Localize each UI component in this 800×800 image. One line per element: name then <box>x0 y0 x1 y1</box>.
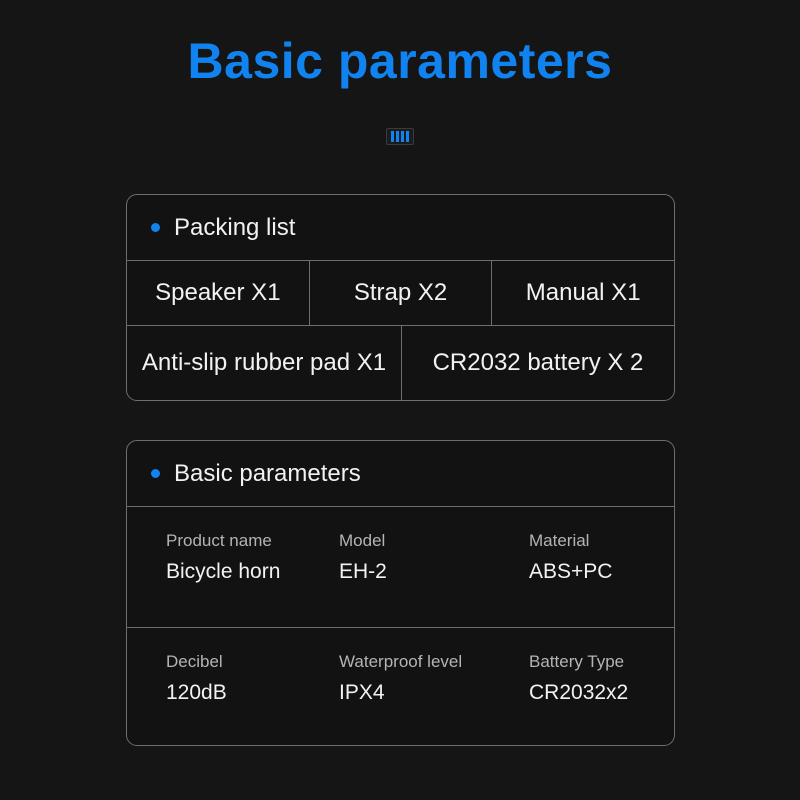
table-row: Speaker X1 Strap X2 Manual X1 <box>127 261 674 325</box>
spec-label: Model <box>339 529 529 554</box>
spec-waterproof-level: Waterproof level IPX4 <box>339 650 529 725</box>
spec-value: Bicycle horn <box>166 558 339 586</box>
bullet-dot-icon <box>151 223 160 232</box>
packing-item-strap: Strap X2 <box>309 261 492 325</box>
spec-row: Decibel 120dB Waterproof level IPX4 Batt… <box>127 627 674 745</box>
spec-product-name: Product name Bicycle horn <box>166 529 339 607</box>
spec-label: Product name <box>166 529 339 554</box>
spec-decibel: Decibel 120dB <box>166 650 339 725</box>
bar-ornament-icon <box>386 128 414 145</box>
packing-item-manual: Manual X1 <box>491 261 674 325</box>
packing-list-title: Packing list <box>174 216 295 240</box>
spec-label: Battery Type <box>529 650 675 675</box>
spec-row: Product name Bicycle horn Model EH-2 Mat… <box>127 507 674 627</box>
spec-material: Material ABS+PC <box>529 529 675 607</box>
spec-label: Waterproof level <box>339 650 529 675</box>
spec-value: 120dB <box>166 679 339 707</box>
basic-parameters-title: Basic parameters <box>174 462 361 486</box>
packing-item-speaker: Speaker X1 <box>127 261 309 325</box>
spec-model: Model EH-2 <box>339 529 529 607</box>
product-spec-page: Basic parameters Packing list Speaker X1… <box>0 0 800 800</box>
page-title: Basic parameters <box>0 34 800 89</box>
table-row: Anti-slip rubber pad X1 CR2032 battery X… <box>127 325 674 400</box>
bullet-dot-icon <box>151 469 160 478</box>
spec-label: Decibel <box>166 650 339 675</box>
spec-value: EH-2 <box>339 558 529 586</box>
spec-battery-type: Battery Type CR2032x2 <box>529 650 675 725</box>
packing-list-card: Packing list Speaker X1 Strap X2 Manual … <box>126 194 675 401</box>
spec-value: IPX4 <box>339 679 529 707</box>
packing-item-battery: CR2032 battery X 2 <box>401 326 674 400</box>
packing-list-header: Packing list <box>127 195 674 261</box>
spec-label: Material <box>529 529 675 554</box>
spec-value: ABS+PC <box>529 558 675 586</box>
basic-parameters-header: Basic parameters <box>127 441 674 507</box>
spec-value: CR2032x2 <box>529 679 675 707</box>
ornament-bar <box>391 131 394 142</box>
ornament-bar <box>396 131 399 142</box>
basic-parameters-card: Basic parameters Product name Bicycle ho… <box>126 440 675 746</box>
ornament-bar <box>406 131 409 142</box>
ornament-bar <box>401 131 404 142</box>
packing-item-rubber-pad: Anti-slip rubber pad X1 <box>127 326 401 400</box>
